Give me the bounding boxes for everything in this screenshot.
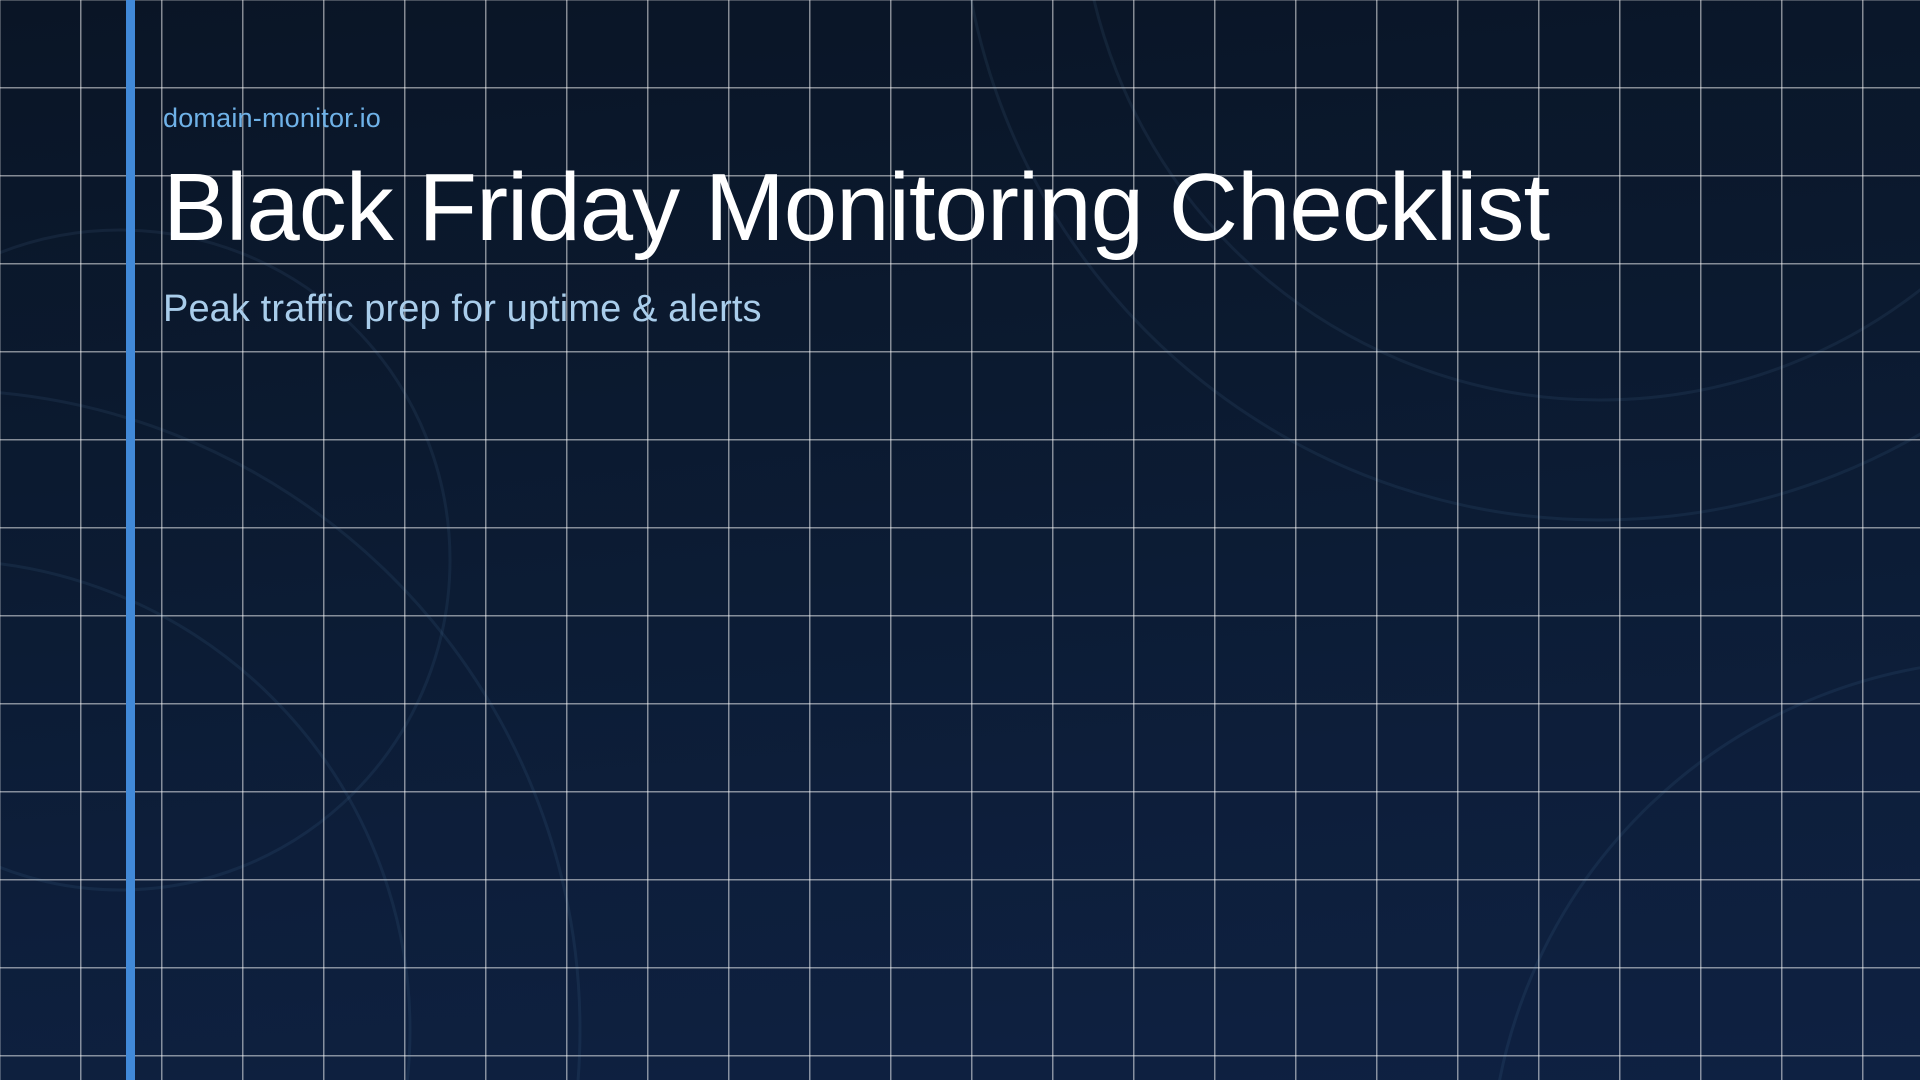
slide-canvas: domain-monitor.io Black Friday Monitorin… xyxy=(0,0,1920,1080)
title-block: domain-monitor.io Black Friday Monitorin… xyxy=(163,104,1613,333)
decorative-arc-bottom-left-outer xyxy=(0,390,580,1080)
accent-bar xyxy=(126,0,135,1080)
page-subtitle: Peak traffic prep for uptime & alerts xyxy=(163,287,1613,333)
decorative-arc-bottom-right xyxy=(1490,660,1920,1080)
page-title: Black Friday Monitoring Checklist xyxy=(163,156,1613,260)
decorative-arc-bottom-left-inner xyxy=(0,560,410,1080)
brand-eyebrow: domain-monitor.io xyxy=(163,104,1613,134)
